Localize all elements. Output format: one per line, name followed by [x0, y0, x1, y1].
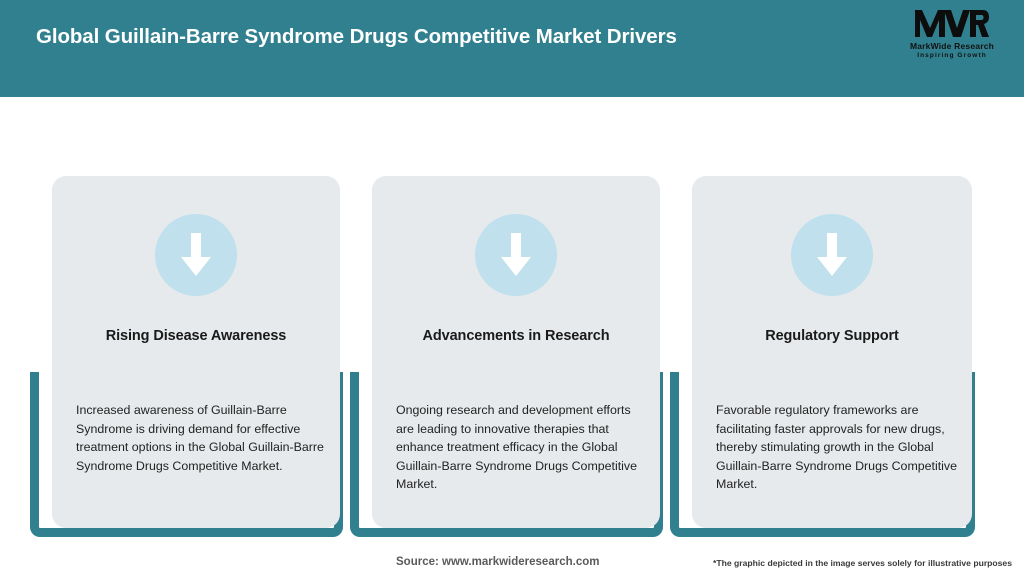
card-title: Regulatory Support: [706, 328, 958, 344]
driver-card-2: Advancements in Research Ongoing researc…: [372, 97, 660, 537]
brand-logo: MarkWide Research Inspiring Growth: [898, 8, 1006, 66]
mwr-logo-icon: [898, 8, 1006, 40]
card-surface: Advancements in Research Ongoing researc…: [372, 176, 660, 528]
card-body-text: Increased awareness of Guillain-Barre Sy…: [76, 401, 328, 475]
down-arrow-icon: [791, 214, 873, 296]
illustrative-disclaimer: *The graphic depicted in the image serve…: [713, 558, 1012, 568]
source-attribution: Source: www.markwideresearch.com: [396, 556, 599, 568]
card-body-text: Favorable regulatory frameworks are faci…: [716, 401, 964, 494]
card-title: Rising Disease Awareness: [66, 328, 326, 344]
card-title: Advancements in Research: [386, 328, 646, 344]
logo-tagline: Inspiring Growth: [898, 52, 1006, 59]
down-arrow-icon: [155, 214, 237, 296]
card-body-text: Ongoing research and development efforts…: [396, 401, 648, 494]
down-arrow-icon: [475, 214, 557, 296]
page-title: Global Guillain-Barre Syndrome Drugs Com…: [36, 24, 836, 50]
driver-card-3: Regulatory Support Favorable regulatory …: [692, 97, 972, 537]
card-surface: Rising Disease Awareness Increased aware…: [52, 176, 340, 528]
drivers-card-group: Rising Disease Awareness Increased aware…: [0, 97, 1024, 537]
driver-card-1: Rising Disease Awareness Increased aware…: [52, 97, 340, 537]
card-surface: Regulatory Support Favorable regulatory …: [692, 176, 972, 528]
logo-company-name: MarkWide Research: [898, 41, 1006, 51]
